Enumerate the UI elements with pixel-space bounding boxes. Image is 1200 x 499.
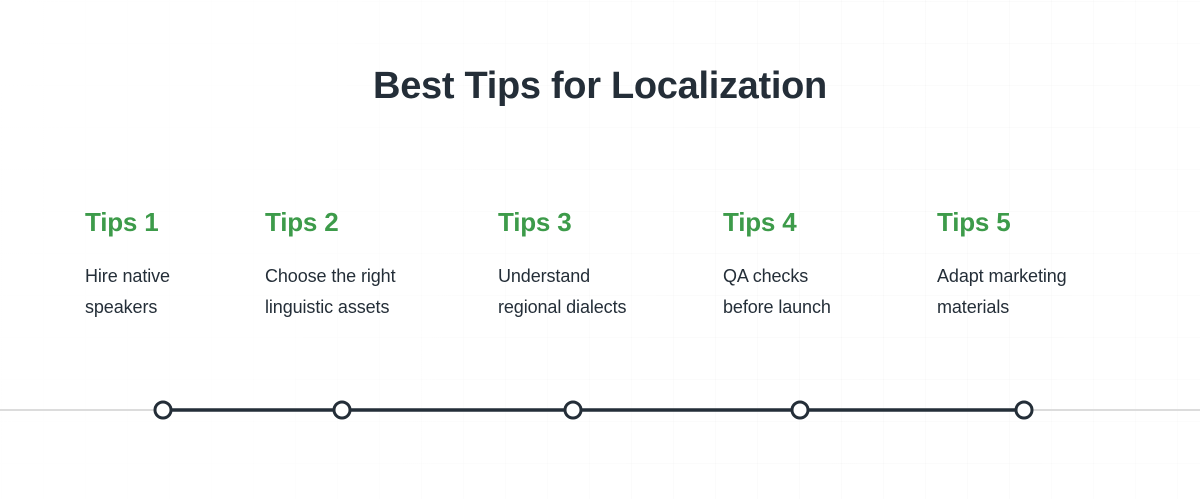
tip-heading-2: Tips 2 (265, 208, 480, 237)
localization-tips-infographic: Best Tips for Localization Tips 1 Hire n… (0, 0, 1200, 499)
tip-description-3: Understand regional dialects (498, 261, 713, 323)
tip-description-1-line-2: speakers (85, 297, 157, 317)
timeline-marker-2[interactable] (334, 402, 350, 418)
tip-description-2: Choose the right linguistic assets (265, 261, 480, 323)
tip-description-1: Hire native speakers (85, 261, 270, 323)
tip-heading-3: Tips 3 (498, 208, 713, 237)
tip-heading-1: Tips 1 (85, 208, 270, 237)
tip-description-4-line-2: before launch (723, 297, 831, 317)
timeline-marker-5[interactable] (1016, 402, 1032, 418)
timeline-marker-1[interactable] (155, 402, 171, 418)
tips-row: Tips 1 Hire native speakers Tips 2 Choos… (0, 208, 1200, 348)
tip-item-3: Tips 3 Understand regional dialects (498, 208, 713, 323)
tip-description-5-line-1: Adapt marketing (937, 266, 1067, 286)
tip-description-4: QA checks before launch (723, 261, 928, 323)
tip-description-1-line-1: Hire native (85, 266, 170, 286)
tip-item-4: Tips 4 QA checks before launch (723, 208, 928, 323)
tip-heading-4: Tips 4 (723, 208, 928, 237)
tip-description-2-line-1: Choose the right (265, 266, 395, 286)
tip-description-5: Adapt marketing materials (937, 261, 1147, 323)
tip-item-2: Tips 2 Choose the right linguistic asset… (265, 208, 480, 323)
tip-item-1: Tips 1 Hire native speakers (85, 208, 270, 323)
tip-description-4-line-1: QA checks (723, 266, 808, 286)
timeline-marker-4[interactable] (792, 402, 808, 418)
tip-description-2-line-2: linguistic assets (265, 297, 389, 317)
tip-description-3-line-2: regional dialects (498, 297, 626, 317)
tip-heading-5: Tips 5 (937, 208, 1147, 237)
page-title: Best Tips for Localization (0, 64, 1200, 110)
tip-description-5-line-2: materials (937, 297, 1009, 317)
tip-item-5: Tips 5 Adapt marketing materials (937, 208, 1147, 323)
tip-description-3-line-1: Understand (498, 266, 590, 286)
timeline-marker-3[interactable] (565, 402, 581, 418)
